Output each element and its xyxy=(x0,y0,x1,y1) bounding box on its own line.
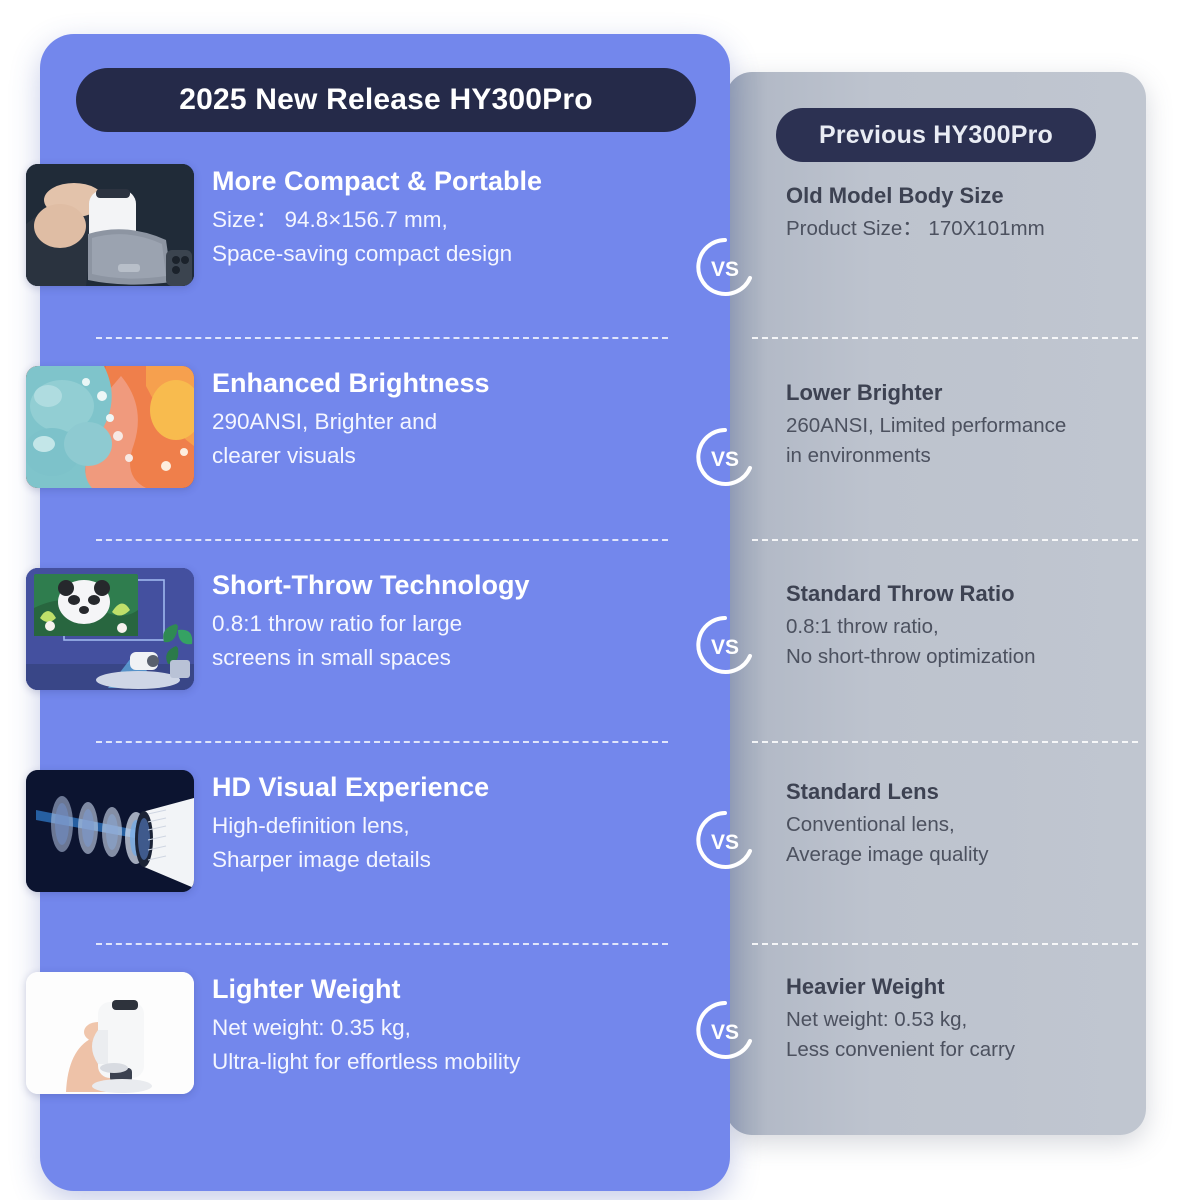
old-line: 0.8:1 throw ratio, xyxy=(786,612,1136,642)
feature-title: More Compact & Portable xyxy=(212,166,542,197)
svg-text:VS: VS xyxy=(711,831,739,854)
projector-in-backpack-photo xyxy=(26,164,194,286)
feature-text-hd-visual: HD Visual Experience High-definition len… xyxy=(212,770,489,876)
feature-line: screens in small spaces xyxy=(212,641,529,674)
old-line: Conventional lens, xyxy=(786,810,1136,840)
old-title: Lower Brighter xyxy=(786,380,1136,406)
old-line: No short-throw optimization xyxy=(786,642,1136,672)
feature-text-lighter-weight: Lighter Weight Net weight: 0.35 kg, Ultr… xyxy=(212,972,520,1078)
divider-old-4 xyxy=(752,943,1138,945)
divider-old-1 xyxy=(752,337,1138,339)
feature-row-short-throw: Short-Throw Technology 0.8:1 throw ratio… xyxy=(26,568,676,690)
exploded-lens-photo xyxy=(26,770,194,892)
old-line: Less convenient for carry xyxy=(786,1035,1136,1065)
feature-title: HD Visual Experience xyxy=(212,772,489,803)
old-line: in environments xyxy=(786,441,1136,471)
feature-line: Space-saving compact design xyxy=(212,237,542,270)
divider-old-2 xyxy=(752,539,1138,541)
feature-text-short-throw: Short-Throw Technology 0.8:1 throw ratio… xyxy=(212,568,529,674)
svg-text:VS: VS xyxy=(711,1021,739,1044)
old-title: Old Model Body Size xyxy=(786,183,1136,209)
old-row-throw-ratio: Standard Throw Ratio 0.8:1 throw ratio, … xyxy=(786,581,1136,672)
feature-line: Ultra-light for effortless mobility xyxy=(212,1045,520,1078)
divider-new-1 xyxy=(96,337,668,339)
svg-text:VS: VS xyxy=(711,636,739,659)
divider-new-2 xyxy=(96,539,668,541)
feature-row-hd-visual: HD Visual Experience High-definition len… xyxy=(26,770,676,892)
hand-holding-projector-photo xyxy=(26,972,194,1094)
feature-title: Lighter Weight xyxy=(212,974,520,1005)
previous-model-badge: Previous HY300Pro xyxy=(776,108,1096,162)
old-title: Heavier Weight xyxy=(786,974,1136,1000)
feature-text-brightness: Enhanced Brightness 290ANSI, Brighter an… xyxy=(212,366,490,472)
old-line: Product Size： 170X101mm xyxy=(786,214,1136,244)
new-release-badge: 2025 New Release HY300Pro xyxy=(76,68,696,132)
vs-badge-2: VS xyxy=(695,427,755,487)
old-line: 260ANSI, Limited performance xyxy=(786,411,1136,441)
old-row-lens: Standard Lens Conventional lens, Average… xyxy=(786,779,1136,870)
old-title: Standard Lens xyxy=(786,779,1136,805)
feature-row-compact: More Compact & Portable Size： 94.8×156.7… xyxy=(26,164,676,286)
vs-badge-4: VS xyxy=(695,810,755,870)
vs-badge-5: VS xyxy=(695,1000,755,1060)
feature-line: Net weight: 0.35 kg, xyxy=(212,1011,520,1044)
divider-new-3 xyxy=(96,741,668,743)
feature-line: Sharper image details xyxy=(212,843,489,876)
feature-title: Short-Throw Technology xyxy=(212,570,529,601)
feature-row-brightness: Enhanced Brightness 290ANSI, Brighter an… xyxy=(26,366,676,488)
old-row-body-size: Old Model Body Size Product Size： 170X10… xyxy=(786,183,1136,244)
feature-line: Size： 94.8×156.7 mm, xyxy=(212,203,542,236)
feature-line: 290ANSI, Brighter and xyxy=(212,405,490,438)
feature-row-lighter-weight: Lighter Weight Net weight: 0.35 kg, Ultr… xyxy=(26,972,676,1094)
glossy-flowers-color-photo xyxy=(26,366,194,488)
infographic-canvas: Previous HY300Pro 2025 New Release HY300… xyxy=(0,0,1200,1200)
svg-text:VS: VS xyxy=(711,258,739,281)
new-release-badge-label: 2025 New Release HY300Pro xyxy=(179,83,593,117)
vs-badge-3: VS xyxy=(695,615,755,675)
feature-line: 0.8:1 throw ratio for large xyxy=(212,607,529,640)
old-line: Net weight: 0.53 kg, xyxy=(786,1005,1136,1035)
old-row-brightness: Lower Brighter 260ANSI, Limited performa… xyxy=(786,380,1136,471)
old-row-weight: Heavier Weight Net weight: 0.53 kg, Less… xyxy=(786,974,1136,1065)
projector-panda-wall-photo xyxy=(26,568,194,690)
divider-new-4 xyxy=(96,943,668,945)
vs-badge-1: VS xyxy=(695,237,755,297)
feature-line: clearer visuals xyxy=(212,439,490,472)
previous-model-badge-label: Previous HY300Pro xyxy=(819,121,1053,150)
feature-text-compact: More Compact & Portable Size： 94.8×156.7… xyxy=(212,164,542,270)
feature-line: High-definition lens, xyxy=(212,809,489,842)
svg-text:VS: VS xyxy=(711,448,739,471)
old-title: Standard Throw Ratio xyxy=(786,581,1136,607)
old-line: Average image quality xyxy=(786,840,1136,870)
feature-title: Enhanced Brightness xyxy=(212,368,490,399)
divider-old-3 xyxy=(752,741,1138,743)
